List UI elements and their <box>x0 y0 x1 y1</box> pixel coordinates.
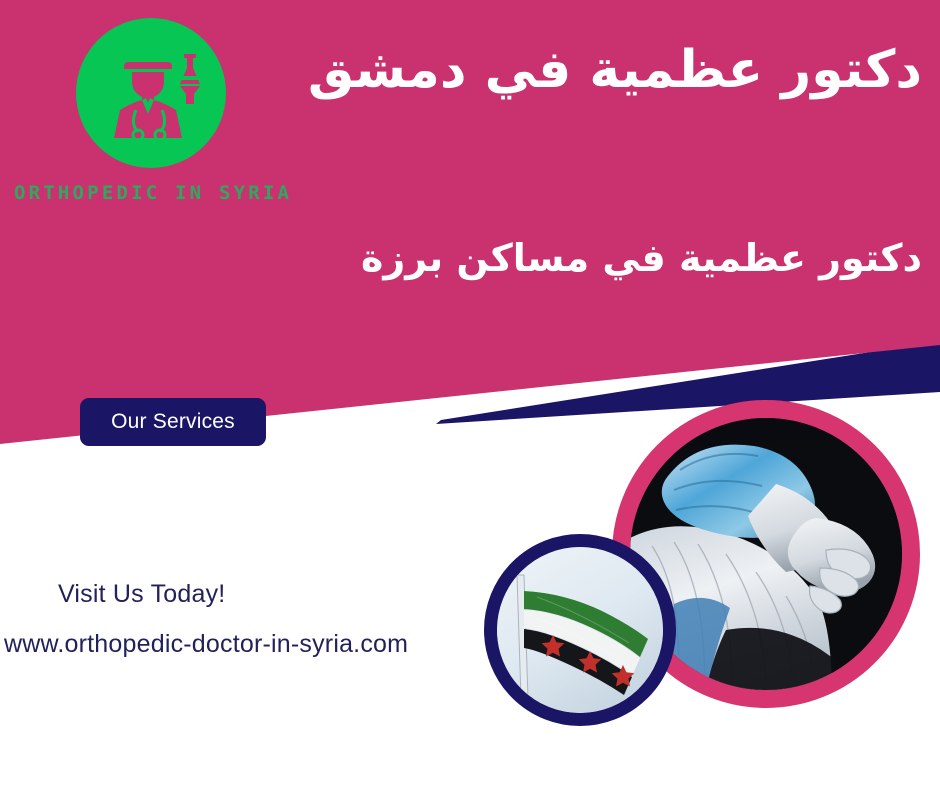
brand-logo[interactable]: ORTHOPEDIC IN SYRIA <box>14 18 274 203</box>
visit-us-text: Visit Us Today! <box>0 578 470 612</box>
headline-secondary: دكتور عظمية في مساكن برزة <box>361 234 922 283</box>
syria-flag-photo-circle <box>484 534 676 726</box>
our-services-badge[interactable]: Our Services <box>80 398 266 446</box>
website-url[interactable]: www.orthopedic-doctor-in-syria.com <box>0 628 470 661</box>
syria-flag-image <box>497 547 663 713</box>
headline-primary: دكتور عظمية في دمشق <box>308 38 922 103</box>
doctor-avatar-icon <box>76 18 226 168</box>
brand-wordmark: ORTHOPEDIC IN SYRIA <box>14 184 274 203</box>
call-to-action: Visit Us Today! www.orthopedic-doctor-in… <box>0 578 470 660</box>
promo-banner: ORTHOPEDIC IN SYRIA دكتور عظمية في دمشق … <box>0 0 940 788</box>
